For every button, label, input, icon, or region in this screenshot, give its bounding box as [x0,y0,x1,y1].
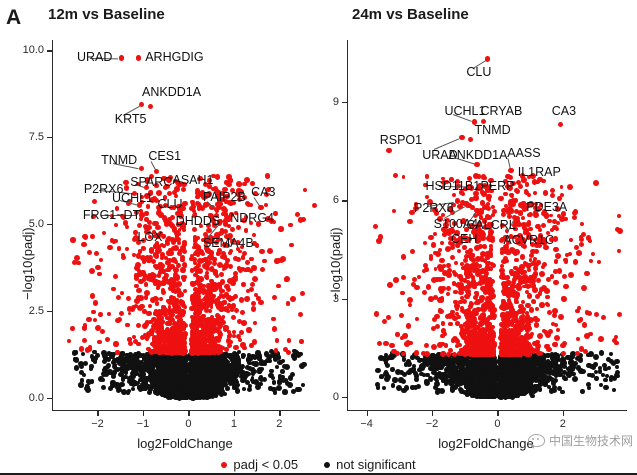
data-point [182,263,186,267]
data-point [154,279,159,284]
data-point [82,373,86,377]
data-point [230,227,235,232]
data-point [223,218,228,223]
data-point [87,250,92,255]
data-point [180,267,185,272]
data-point [301,217,306,222]
data-point [207,260,212,265]
data-point [198,304,204,310]
labeled-point-arhgdig [136,55,141,60]
data-point [181,335,187,341]
data-point [220,375,224,379]
data-point [275,365,279,369]
data-point [197,268,203,274]
data-point [78,382,83,387]
data-point [182,249,187,254]
data-point [134,284,139,289]
data-point [240,310,245,315]
data-point [154,325,159,330]
data-point [278,375,283,380]
data-point [146,311,152,317]
gene-label-sparc: SPARC [130,176,172,189]
data-point [194,386,198,390]
data-point [136,253,141,258]
data-point [219,272,225,278]
data-point [111,287,115,291]
data-point [222,254,228,260]
data-point [147,369,151,373]
data-point [218,349,222,353]
data-point [131,374,136,379]
data-point [298,312,303,317]
data-point [212,378,217,383]
data-point [257,353,262,358]
data-point [114,382,120,388]
data-point [173,245,179,251]
data-point [189,367,194,372]
data-point [144,282,148,286]
data-point [145,320,149,324]
data-point [251,306,256,311]
data-point [143,355,147,359]
data-point [99,258,103,262]
data-point [136,323,141,328]
data-point [88,345,93,350]
data-point [157,273,162,278]
data-point [160,256,164,260]
data-point [153,253,159,259]
data-point [238,338,242,342]
data-point [153,311,157,315]
data-point [93,359,98,364]
x-tick-label: 0 [168,418,208,430]
data-point [143,335,147,339]
data-point [115,318,120,323]
data-point [284,278,288,282]
data-point [124,185,129,190]
data-point [180,309,186,315]
data-point [180,322,185,327]
data-point [236,181,242,187]
data-point [196,263,201,268]
data-point [86,379,91,384]
data-point [239,330,244,335]
data-point [218,306,223,311]
data-point [251,265,256,270]
data-point [154,264,160,270]
data-point [165,241,170,246]
data-point [112,358,118,364]
data-point [237,350,241,354]
data-point [242,251,247,256]
data-point [242,182,246,186]
data-point [76,261,80,265]
data-point [253,321,257,325]
y-axis-label-right: −log10(padj) [328,227,343,300]
data-point [257,367,263,373]
data-point [255,384,261,390]
data-point [228,251,232,255]
data-point [104,371,110,377]
data-point [127,361,132,366]
data-point [181,187,186,192]
data-point [115,350,119,354]
data-point [161,307,166,312]
data-point [148,360,152,364]
gene-label-tnmd: TNMD [101,154,137,167]
data-point [149,248,154,253]
data-point [232,277,237,282]
data-point [276,284,281,289]
data-point [218,284,223,289]
data-point [237,266,241,270]
data-point [271,317,276,322]
x-tick-label: −1 [123,418,163,430]
data-point [141,372,146,377]
data-point [211,385,216,390]
data-point [161,280,167,286]
data-point [90,234,95,239]
x-tick-label: 2 [259,418,299,430]
data-point [171,287,176,292]
gene-label-paip2b: PAIP2B [203,191,246,204]
labeled-point-ces1 [154,169,159,174]
data-point [211,371,216,376]
data-point [181,275,185,279]
data-point [215,370,220,375]
data-point [93,318,97,322]
data-point [211,322,216,327]
data-point [287,382,293,388]
data-point [86,317,92,323]
plot-title-12m: 12m vs Baseline [48,6,165,23]
data-point [97,340,102,345]
data-point [301,383,306,388]
x-tick-label: 1 [214,418,254,430]
data-point [252,339,257,344]
y-tick-label: 5.0 [0,218,44,230]
data-point [144,217,149,222]
data-point [79,346,85,352]
data-point [224,284,230,290]
data-point [219,320,224,325]
data-point [173,326,177,330]
gene-label-ces1: CES1 [148,150,181,163]
data-point [275,338,280,343]
gene-label-arhgdig: ARHGDIG [145,51,203,64]
data-point [83,234,88,239]
data-point [137,223,143,229]
data-point [105,337,110,342]
data-point [212,365,217,370]
data-point [178,350,182,354]
data-point [227,334,232,339]
data-point [149,377,153,381]
data-point [215,274,220,279]
data-point [90,354,94,358]
x-tick-label: −2 [77,418,117,430]
data-point [177,331,182,336]
data-point [107,312,111,316]
data-point [278,226,283,231]
data-point [205,276,209,280]
data-point [244,228,248,232]
data-point [288,223,292,227]
data-point [196,316,200,320]
data-point [225,386,230,391]
data-point [195,188,200,193]
data-point [215,174,221,180]
data-point [114,223,118,227]
data-point [154,378,159,383]
data-point [211,347,215,351]
data-point [289,243,294,248]
labeled-point-ca3 [258,205,263,210]
figure-panel-a: A 12m vs Baseline −log10(padj) log2FoldC… [0,0,637,475]
data-point [167,258,171,262]
data-point [209,337,213,341]
data-point [171,373,175,377]
data-point [280,369,284,373]
data-point [272,380,277,385]
data-point [245,267,250,272]
data-point [231,315,236,320]
data-point [184,359,188,363]
data-point [299,363,305,369]
gene-label-asah1: ASAH1 [172,174,213,187]
y-tick-label: 10.0 [0,44,44,56]
data-point [108,386,113,391]
data-point [252,369,257,374]
data-point [94,251,99,256]
data-point [267,248,273,254]
data-point [119,311,124,316]
data-point [174,373,179,378]
data-point [125,247,129,251]
data-point [142,309,146,313]
data-point [67,339,71,343]
data-point [156,373,161,378]
data-point [224,325,229,330]
data-point [121,378,125,382]
data-point [281,359,286,364]
data-point [183,305,187,309]
data-point [113,366,117,370]
data-point [234,384,239,389]
data-point [180,255,185,260]
data-point [182,228,186,232]
data-point [274,258,279,263]
data-point [233,345,238,350]
x-axis-label-left: log2FoldChange [52,436,318,451]
data-point [236,225,241,230]
data-point [138,385,142,389]
data-point [98,312,103,317]
data-point [95,265,100,270]
data-point [261,361,266,366]
data-point [274,348,279,353]
data-point [136,273,141,278]
data-point [260,267,265,272]
plot-title-24m: 24m vs Baseline [352,6,469,23]
data-point [538,387,542,391]
gene-label-ndrg4: NDRG4 [230,212,274,225]
data-point [212,328,216,332]
data-point [201,252,205,256]
data-point [166,250,172,256]
data-point [233,256,238,261]
labeled-point-urad [119,55,124,60]
data-point [133,339,138,344]
data-point [107,245,113,251]
data-point [213,343,217,347]
labeled-point-tnmd [139,166,144,171]
data-point [101,385,106,390]
data-point [272,326,278,332]
data-point [250,282,256,288]
data-point [303,188,307,192]
data-point [153,336,158,341]
data-point [196,236,200,240]
data-point [125,225,130,230]
data-point [242,376,247,381]
data-point [200,382,205,387]
data-point [128,341,133,346]
data-point [151,317,157,323]
data-point [82,338,87,343]
data-point [194,334,198,338]
data-point [208,342,213,347]
y-tick-label: 2.5 [0,305,44,317]
data-point [112,370,116,374]
data-point [194,340,199,345]
data-point [110,238,114,242]
data-point [89,367,93,371]
data-point [269,369,274,374]
data-point [213,287,218,292]
data-point [246,327,251,332]
data-point [262,259,267,264]
gene-label-ca3: CA3 [251,186,275,199]
data-point [209,250,214,255]
data-point [70,326,75,331]
data-point [113,341,118,346]
gene-label-clu: CLU [157,198,182,211]
data-point [159,358,164,363]
data-point [234,308,239,313]
data-point [173,274,179,280]
data-point [242,346,247,351]
gene-label-urad: URAD [77,51,112,64]
data-point [229,355,234,360]
gene-label-dhdds: DHDDS [176,215,220,228]
data-point [130,307,135,312]
labeled-point-dhdds [162,215,167,220]
y-tick-label: 7.5 [0,131,44,143]
data-point [81,242,87,248]
data-point [296,353,301,358]
data-point [228,264,233,269]
data-point [253,361,258,366]
data-point [128,312,132,316]
data-point [299,339,303,343]
data-point [276,385,282,391]
data-point [91,310,96,315]
data-point [158,383,163,388]
data-point [113,274,118,279]
gene-label-sema4b: SEMA4B [203,237,254,250]
labeled-point-ankdd1a [148,104,153,109]
data-point [241,355,246,360]
data-point [97,272,101,276]
data-point [100,329,105,334]
data-point [223,361,228,366]
data-point [125,323,130,328]
data-point [204,378,209,383]
data-point [81,352,85,356]
data-point [127,337,131,341]
data-point [155,244,160,249]
data-point [184,377,190,383]
data-point [190,268,194,272]
data-point [121,255,126,260]
data-point [172,282,177,287]
data-point [228,363,233,368]
data-point [196,275,200,279]
panel-letter: A [6,6,21,30]
data-point [117,246,121,250]
gene-label-krt5: KRT5 [115,113,147,126]
data-point [265,173,270,178]
data-point [245,260,250,265]
data-point [226,182,231,187]
y-axis-label-left: −log10(padj) [20,227,35,300]
data-point [241,282,246,287]
data-point [144,211,148,215]
gene-label-uchl1: UCHL1 [112,192,153,205]
data-point [166,268,170,272]
data-point [70,237,75,242]
data-point [102,231,106,235]
plot-area-24m: CLUUCHL1CRYABCA3TNMDRSPO1URADANKDD1AAASS… [347,40,625,410]
data-point [205,331,211,337]
data-point [287,338,291,342]
gene-label-lox: LOX [137,231,162,244]
data-point [89,268,95,274]
gene-label-frg1−dt: FRG1−DT [83,209,140,222]
data-point [74,350,78,354]
data-point [273,356,278,361]
data-point [213,257,217,261]
data-point [259,249,265,255]
data-point [224,347,229,352]
gene-label-ankdd1a: ANKDD1A [142,86,201,99]
data-point [162,363,166,367]
data-point [139,279,144,284]
data-point [218,231,223,236]
data-point [288,375,294,381]
data-point [101,350,107,356]
data-point [229,340,233,344]
data-point [197,206,202,211]
data-point [188,372,193,377]
